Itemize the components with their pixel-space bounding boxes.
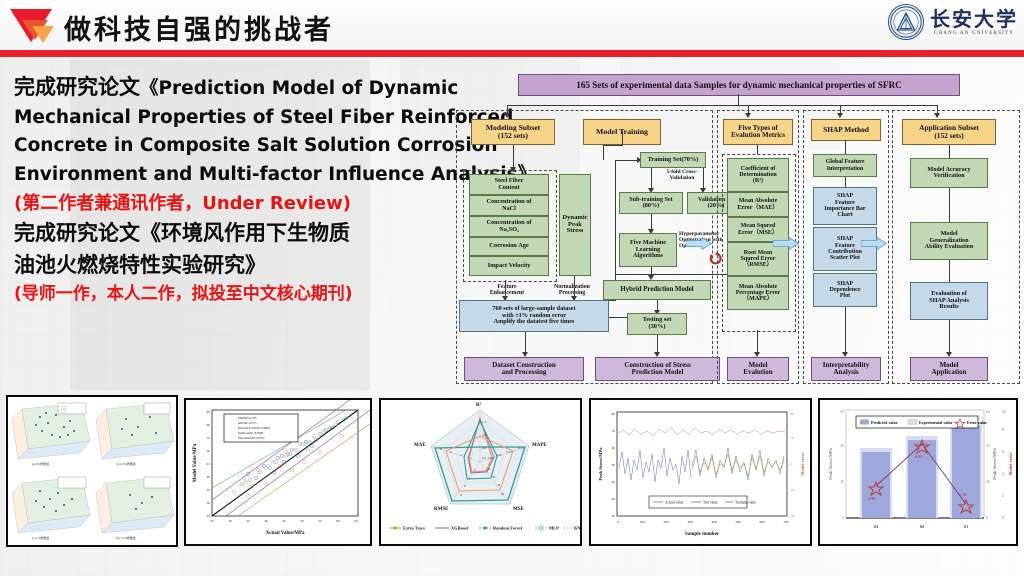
metric-2-l2: Error（MSE） xyxy=(738,230,778,236)
flow-connector xyxy=(949,145,950,158)
app-0-l2: Verification xyxy=(933,173,964,180)
svg-text:40: 40 xyxy=(207,475,211,479)
svg-text:40: 40 xyxy=(840,444,844,448)
svg-text:70: 70 xyxy=(612,429,616,433)
app-1-l3: Ability Evaluation xyxy=(925,244,974,251)
feature-1-l2: NaCl xyxy=(502,206,516,213)
svg-text:25: 25 xyxy=(207,514,211,518)
svg-text:600: 600 xyxy=(759,520,764,524)
flow-connector xyxy=(651,168,652,190)
svg-text:Actual value: Actual value xyxy=(665,500,684,504)
svg-text:35: 35 xyxy=(207,488,211,492)
svg-text:0.9: 0.9 xyxy=(482,433,486,437)
svg-text:0.12: 0.12 xyxy=(506,450,512,454)
svg-text:36: 36 xyxy=(492,475,496,479)
svg-text:30: 30 xyxy=(612,497,616,501)
svg-text:Peak Stress/MPa: Peak Stress/MPa xyxy=(598,447,603,481)
app-2-l3: Results xyxy=(939,304,958,311)
svg-text:60: 60 xyxy=(336,519,340,523)
svg-text:10: 10 xyxy=(790,436,794,440)
svg-text:0: 0 xyxy=(842,516,844,520)
outcome1-l2: and Processing xyxy=(502,369,547,376)
svg-text:Peak Stress/MPa: Peak Stress/MPa xyxy=(828,447,833,480)
node-metric-r2[interactable]: Coefficient of Determination (R²) xyxy=(727,158,789,192)
svg-text:MAPE: MAPE xyxy=(532,443,547,448)
svg-text:Model Value/MPa: Model Value/MPa xyxy=(193,443,198,482)
svg-text:30: 30 xyxy=(207,501,211,505)
flow-connector xyxy=(757,145,758,154)
stage-arrow-icon xyxy=(861,237,887,250)
svg-text:XGBoost: XGBoost xyxy=(451,526,469,531)
shap-head-label: SHAP Method xyxy=(823,126,869,134)
feature-0-l2: Content xyxy=(498,185,519,192)
feature-3-l1: Corrosion Age xyxy=(489,243,528,250)
text-line-1: 完成研究论文《Prediction Model of Dynamic xyxy=(14,76,454,100)
figure-predicted-vs-experimental-bars[interactable]: 2.986.841.19 Predicted value Experimenta… xyxy=(818,398,1018,546)
svg-text:50: 50 xyxy=(612,463,616,467)
figure-sample-series[interactable]: Actual value Test value Training value 0… xyxy=(589,398,812,546)
target-l3: Stress xyxy=(567,228,584,235)
svg-text:65: 65 xyxy=(354,519,358,523)
node-five-ml-algorithms[interactable]: Five Machine Learning Algorithms xyxy=(619,233,677,267)
metric-1-l2: Error（MAE） xyxy=(738,205,779,211)
flow-connector xyxy=(622,131,623,146)
flow-connector xyxy=(603,145,604,160)
svg-text:Random Forest: Random Forest xyxy=(493,526,523,531)
svg-text:(b) 0.5%掺量组: (b) 0.5%掺量组 xyxy=(116,461,136,466)
shap-2-l4: Scatter Plot xyxy=(830,255,860,261)
text-line-2: Mechanical Properties of Steel Fiber Rei… xyxy=(14,108,454,129)
node-feature-steel-fiber-content[interactable]: Steel Fiber Content xyxy=(469,174,549,195)
page-title: 做科技自强的挑战者 xyxy=(64,8,334,47)
shap-3-l3: Plot xyxy=(840,293,850,299)
university-seal-icon xyxy=(888,4,924,40)
svg-text:40: 40 xyxy=(986,444,990,448)
svg-text:0.3: 0.3 xyxy=(482,456,486,460)
university-logo: 长安大学 CHANG AN UNIVERSITY xyxy=(888,4,1018,40)
text-line-5-note: (第二作者兼通讯作者，Under Review) xyxy=(14,194,454,214)
header-red-rule xyxy=(0,50,1024,57)
svg-text:60: 60 xyxy=(986,410,990,414)
node-model-evaluation[interactable]: Model Evalution xyxy=(727,357,789,381)
flow-connector xyxy=(609,300,616,301)
svg-text:4: 4 xyxy=(1002,472,1004,476)
svg-text:20: 20 xyxy=(986,480,990,484)
svg-text:XGBoost:R²=0.9300: XGBoost:R²=0.9300 xyxy=(238,431,264,435)
svg-text:MLP:R²=0.335: MLP:R²=0.335 xyxy=(238,416,257,420)
flow-connector xyxy=(757,330,758,354)
metrics-head-l2: Evalution Metrics xyxy=(731,132,785,139)
node-modeling-subset-l2: (152 sets) xyxy=(498,132,528,140)
flow-connector xyxy=(949,260,950,282)
results-figure-strip: 0.5% 1.0% 1.5% (a) 0%掺量组 (b) 0.5%掺量组 xyxy=(0,392,1024,560)
flow-connector xyxy=(507,105,937,106)
svg-text:0: 0 xyxy=(1002,516,1004,520)
svg-text:Training value: Training value xyxy=(735,500,756,504)
node-stress-prediction-model[interactable]: Construction of Stress Prediction Model xyxy=(595,357,720,381)
svg-text:65: 65 xyxy=(207,410,211,414)
shap-0-l2: Interpretation xyxy=(827,166,864,172)
svg-text:-20: -20 xyxy=(790,514,795,518)
label-normalization-processing: Normalization Processing xyxy=(537,284,607,296)
flow-connector xyxy=(949,320,950,354)
metric-0-l3: (R²) xyxy=(753,178,763,184)
svg-text:40: 40 xyxy=(612,480,616,484)
svg-text:0.09: 0.09 xyxy=(496,453,502,457)
node-metric-mae[interactable]: Mean Absolute Error（MAE） xyxy=(727,192,789,217)
svg-text:45: 45 xyxy=(207,462,211,466)
svg-text:45: 45 xyxy=(282,519,286,523)
svg-text:Actual Value/MPa: Actual Value/MPa xyxy=(265,531,305,536)
svg-text:S3: S3 xyxy=(874,524,878,529)
svg-text:20: 20 xyxy=(612,514,616,518)
svg-text:S2: S2 xyxy=(920,524,924,529)
svg-text:MAE: MAE xyxy=(414,443,426,448)
svg-text:Random Forest:R²=0.8855: Random Forest:R²=0.8855 xyxy=(238,426,271,430)
svg-text:60: 60 xyxy=(840,410,844,414)
node-model-application[interactable]: Model Application xyxy=(910,357,988,381)
svg-text:60: 60 xyxy=(207,423,211,427)
svg-text:50: 50 xyxy=(207,449,211,453)
svg-text:1.5%: 1.5% xyxy=(61,411,66,414)
svg-text:Peak Stress/MPa: Peak Stress/MPa xyxy=(992,447,997,480)
node-amplified-dataset[interactable]: 760 sets of large-sample dataset with ±1… xyxy=(459,300,609,332)
svg-text:55: 55 xyxy=(207,436,211,440)
app-head-l2: (152 sets) xyxy=(934,132,963,140)
node-model-accuracy-verification[interactable]: Model Accuracy Verification xyxy=(910,158,988,188)
svg-text:6.84: 6.84 xyxy=(915,454,923,459)
svg-text:20: 20 xyxy=(840,480,844,484)
node-application-subset-head[interactable]: Application Subset (152 sets) xyxy=(902,119,996,145)
stage-arrow-icon xyxy=(773,237,799,250)
svg-text:-10: -10 xyxy=(790,488,795,492)
testset-l2: (30%) xyxy=(648,324,665,331)
stage-arrow-icon xyxy=(686,237,712,250)
svg-text:30: 30 xyxy=(228,519,232,523)
svg-text:0: 0 xyxy=(617,520,619,524)
node-feature-impact-velocity[interactable]: Impact Velocity xyxy=(469,256,549,276)
svg-text:80: 80 xyxy=(612,412,616,416)
metric-4-l3: （MAPE） xyxy=(743,296,773,302)
svg-text:ExtraTrees:R²=0.9357: ExtraTrees:R²=0.9357 xyxy=(238,436,265,440)
shap-1-l4: Chart xyxy=(837,212,852,218)
figure-radar-metrics[interactable]: R² MAPE MSE RMSE MAE 1.20.90.60.3 0.150.… xyxy=(379,398,582,546)
amplify-l3: Amplify the datatest five times xyxy=(494,319,575,326)
svg-text:Model error: Model error xyxy=(1008,452,1013,475)
svg-text:0: 0 xyxy=(790,462,792,466)
svg-text:S1: S1 xyxy=(964,524,968,529)
svg-text:0.06: 0.06 xyxy=(488,456,494,460)
feature-2-l2: Na₂SO₄ xyxy=(499,227,519,234)
flow-connector xyxy=(845,177,846,187)
text-line-6: 完成研究论文《环境风作用下生物质 xyxy=(14,222,454,246)
node-hybrid-prediction-model[interactable]: Hybrid Prediction Model xyxy=(603,280,711,300)
svg-text:Predicted value: Predicted value xyxy=(871,420,898,425)
svg-text:KNN: KNN xyxy=(574,526,580,531)
flow-connector xyxy=(845,141,846,154)
text-line-7: 油池火燃烧特性实验研究》 xyxy=(14,254,454,278)
flow-connector xyxy=(703,168,704,190)
svg-text:60: 60 xyxy=(612,446,616,450)
node-feature-corrosion-age[interactable]: Corrosion Age xyxy=(469,237,549,256)
text-line-3: Concrete in Composite Salt Solution Corr… xyxy=(14,136,454,157)
svg-text:R²: R² xyxy=(476,402,482,408)
node-modeling-subset[interactable]: Modeling Subset (152 sets) xyxy=(471,119,555,145)
shap-outcome-l2: Analysis xyxy=(833,369,858,376)
app-outcome-l2: Application xyxy=(931,369,966,376)
node-dataset-construction[interactable]: Dataset Construction and Processing xyxy=(464,357,584,381)
figure-3d-scatter-grid[interactable]: 0.5% 1.0% 1.5% (a) 0%掺量组 (b) 0.5%掺量组 xyxy=(6,395,178,547)
svg-text:25: 25 xyxy=(210,519,214,523)
svg-text:35: 35 xyxy=(246,519,250,523)
node-testing-set[interactable]: Testing set (30%) xyxy=(627,313,687,335)
svg-text:Model error: Model error xyxy=(800,452,805,475)
methodology-flowchart: 165 Sets of experimental data Samples fo… xyxy=(455,74,1020,386)
svg-text:MLP: MLP xyxy=(549,526,559,531)
svg-text:1.19: 1.19 xyxy=(959,492,966,497)
svg-text:MSE: MSE xyxy=(513,507,525,512)
text-line-1-en: 《Prediction Model of Dynamic xyxy=(140,78,458,99)
flow-connector xyxy=(738,94,739,105)
flow-connector xyxy=(615,160,639,161)
svg-text:500: 500 xyxy=(735,520,740,524)
text-line-4: Environment and Multi-factor Influence A… xyxy=(14,165,454,186)
svg-text:6: 6 xyxy=(1002,450,1004,454)
svg-text:Extra Trees: Extra Trees xyxy=(403,526,425,531)
hybrid-label: Hybrid Prediction Model xyxy=(620,286,693,293)
flow-connector xyxy=(949,188,950,222)
svg-text:KNN:R²=0.575: KNN:R²=0.575 xyxy=(238,421,257,425)
university-name-zh: 长安大学 xyxy=(930,9,1018,29)
svg-text:Error value: Error value xyxy=(967,420,987,425)
svg-text:Sample number: Sample number xyxy=(685,532,720,537)
svg-text:(a) 0%掺量组: (a) 0%掺量组 xyxy=(32,461,49,466)
flow-connector xyxy=(615,160,616,300)
svg-text:400: 400 xyxy=(711,520,716,524)
node-shap-global-feature-interpretation[interactable]: Global Feature Interpretation xyxy=(813,154,877,177)
svg-text:100: 100 xyxy=(639,520,644,524)
flow-connector xyxy=(845,307,846,354)
flow-connector xyxy=(525,332,526,354)
svg-text:RMSE: RMSE xyxy=(434,507,449,512)
flow-connector xyxy=(615,274,616,278)
svg-text:60: 60 xyxy=(501,492,505,496)
svg-text:48: 48 xyxy=(497,483,501,487)
fiveml-l3: Algorithms xyxy=(633,253,663,260)
metrics-outcome-l2: Evalution xyxy=(743,369,772,376)
flow-connector xyxy=(574,276,575,298)
text-line-8-note: (导师一作，本人二作，拟投至中文核心期刊) xyxy=(14,285,454,304)
label-feature-enhancement: Feature Enhancement xyxy=(477,284,537,296)
outcome2-l2: Prediction Model xyxy=(632,369,684,376)
node-shap-results-evaluation[interactable]: Evaluation of SHAP Analysis Results xyxy=(910,282,988,320)
node-evaluation-metrics-head[interactable]: Five Types of Evalution Metrics xyxy=(723,119,793,145)
metric-3-l3: （RMSE） xyxy=(743,262,772,268)
node-feature-na2so4-concentration[interactable]: Concentration of Na₂SO₄ xyxy=(469,216,549,237)
node-metric-mape[interactable]: Mean Absolute Percentage Error （MAPE） xyxy=(727,276,789,310)
svg-text:300: 300 xyxy=(687,520,692,524)
svg-text:700: 700 xyxy=(783,520,788,524)
svg-text:2: 2 xyxy=(1002,494,1004,498)
red-triangle-logo xyxy=(8,6,64,46)
svg-text:Experimental value: Experimental value xyxy=(919,420,953,425)
node-shap-importance-bar-chart[interactable]: SHAP Feature Importance Bar Chart xyxy=(813,187,877,225)
node-model-generalization-evaluation[interactable]: Model Generalization Ability Evaluation xyxy=(910,222,988,260)
figure-predicted-vs-actual-scatter[interactable]: MLP:R²=0.335 KNN:R²=0.575 Random Forest:… xyxy=(184,398,372,546)
achievement-text-block: 完成研究论文《Prediction Model of Dynamic Mecha… xyxy=(14,76,454,312)
node-sub-training-set[interactable]: Sub-training Set (80%) xyxy=(619,192,683,214)
node-feature-nacl-concentration[interactable]: Concentration of NaCl xyxy=(469,195,549,216)
svg-text:Test value: Test value xyxy=(703,500,718,504)
flow-connector xyxy=(513,145,514,169)
subtrain-l2: (80%) xyxy=(643,203,660,210)
svg-text:10: 10 xyxy=(1002,410,1006,414)
node-shap-dependence-plot[interactable]: SHAP Dependence Plot xyxy=(813,273,877,307)
svg-text:50: 50 xyxy=(300,519,304,523)
flow-connector xyxy=(603,145,622,146)
university-name-en: CHANG AN UNIVERSITY xyxy=(930,31,1018,36)
svg-text:0.6: 0.6 xyxy=(482,446,486,450)
feature-4-l1: Impact Velocity xyxy=(488,263,531,270)
svg-text:0: 0 xyxy=(986,516,988,520)
text-line-1-zh: 完成研究论文 xyxy=(14,75,140,99)
svg-text:40: 40 xyxy=(264,519,268,523)
svg-text:2.98: 2.98 xyxy=(868,496,875,501)
training-set-label: Training Set(70%) xyxy=(648,157,699,164)
node-interpretability-analysis[interactable]: Interpretability Analysis xyxy=(811,357,881,381)
svg-text:200: 200 xyxy=(663,520,668,524)
svg-text:(c) 1%掺量组: (c) 1%掺量组 xyxy=(32,535,49,540)
svg-text:8: 8 xyxy=(1002,428,1004,432)
flowchart-title-banner: 165 Sets of experimental data Samples fo… xyxy=(518,74,960,96)
svg-text:(d) 1.5%掺量组: (d) 1.5%掺量组 xyxy=(116,535,136,540)
svg-text:55: 55 xyxy=(318,519,322,523)
svg-text:0.15: 0.15 xyxy=(518,446,524,450)
node-training-set[interactable]: Training Set(70%) xyxy=(640,152,706,168)
node-dynamic-peak-stress[interactable]: Dynamic Peak Stress xyxy=(559,174,591,276)
svg-text:20: 20 xyxy=(790,412,794,416)
svg-text:24: 24 xyxy=(487,467,491,471)
svg-text:1.2: 1.2 xyxy=(482,420,486,424)
node-shap-method-head[interactable]: SHAP Method xyxy=(811,119,881,141)
